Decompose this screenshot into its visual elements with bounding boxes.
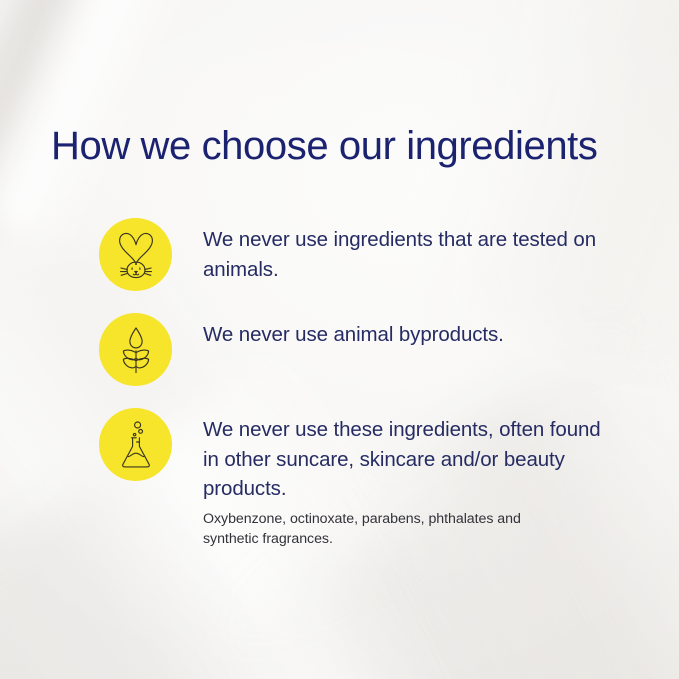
claim-body: We never use these ingredients, often fo… (172, 408, 613, 550)
infographic-canvas: How we choose our ingredients (0, 0, 679, 679)
content-layer: How we choose our ingredients (0, 0, 679, 679)
claim-icon-badge (99, 408, 172, 481)
page-title: How we choose our ingredients (51, 124, 598, 169)
claim-icon-badge (99, 313, 172, 386)
claim-note: Oxybenzone, octinoxate, parabens, phthal… (203, 509, 563, 550)
list-item: We never use these ingredients, often fo… (99, 408, 639, 550)
claim-body: We never use animal byproducts. (172, 313, 504, 350)
list-item: We never use ingredients that are tested… (99, 218, 639, 291)
claim-icon-badge (99, 218, 172, 291)
bunny-heart-ears-icon (114, 229, 158, 281)
claims-list: We never use ingredients that are tested… (99, 218, 639, 550)
claim-text: We never use animal byproducts. (203, 320, 504, 350)
plant-sprig-icon (116, 325, 156, 375)
claim-body: We never use ingredients that are tested… (172, 218, 603, 284)
list-item: We never use animal byproducts. (99, 313, 639, 386)
erlenmeyer-flask-icon (115, 420, 157, 470)
claim-text: We never use these ingredients, often fo… (203, 415, 613, 504)
claim-text: We never use ingredients that are tested… (203, 225, 603, 284)
